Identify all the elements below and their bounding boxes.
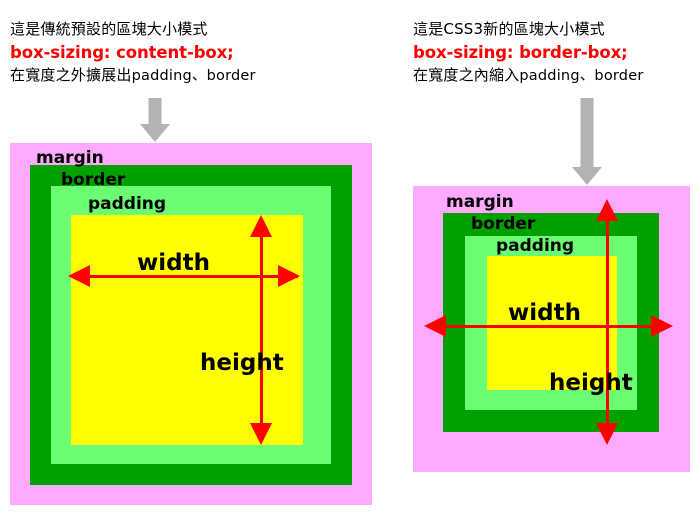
width-arrowhead-right-icon (278, 265, 300, 287)
width-arrowhead-left-icon (68, 265, 90, 287)
width-arrowhead-right-icon (651, 315, 673, 337)
caption-behaviour-line: 在寬度之內縮入padding、border (413, 64, 644, 88)
height-label-right: height (549, 372, 633, 395)
padding-label-right: padding (496, 238, 574, 255)
padding-label-left: padding (88, 196, 166, 213)
height-measure-line-left (260, 225, 263, 435)
width-label-left: width (137, 252, 210, 275)
content-box-panel: 這是傳統預設的區塊大小模式 box-sizing: content-box; 在… (0, 0, 400, 514)
arrow-shaft (149, 98, 162, 125)
border-label-left: border (61, 172, 125, 189)
arrow-shaft (581, 98, 594, 168)
caption-behaviour-line: 在寬度之外擴展出padding、border (10, 64, 256, 88)
caption-css-declaration: box-sizing: border-box; (413, 41, 644, 64)
caption-description-line: 這是CSS3新的區塊大小模式 (413, 18, 644, 41)
width-label-right: width (508, 302, 581, 325)
height-arrowhead-down-icon (596, 423, 618, 445)
caption-behaviour-latin: padding、border (132, 68, 256, 84)
height-arrowhead-up-icon (250, 215, 272, 237)
width-arrowhead-left-icon (424, 315, 446, 337)
down-arrow-icon (570, 98, 604, 186)
height-label-left: height (200, 352, 284, 375)
height-arrowhead-down-icon (250, 423, 272, 445)
margin-label-left: margin (36, 150, 104, 167)
border-box-caption: 這是CSS3新的區塊大小模式 box-sizing: border-box; 在… (413, 18, 644, 88)
margin-label-right: margin (446, 194, 514, 211)
content-box-caption: 這是傳統預設的區塊大小模式 box-sizing: content-box; 在… (10, 18, 256, 88)
height-arrowhead-up-icon (596, 199, 618, 221)
arrow-head (140, 124, 170, 142)
caption-behaviour-cjk: 在寬度之內縮入 (413, 66, 519, 84)
caption-description-line: 這是傳統預設的區塊大小模式 (10, 18, 256, 41)
border-label-right: border (471, 216, 535, 233)
down-arrow-icon (138, 98, 172, 142)
caption-css-declaration: box-sizing: content-box; (10, 41, 256, 64)
caption-behaviour-cjk: 在寬度之外擴展出 (10, 66, 132, 84)
caption-behaviour-latin: padding、border (519, 68, 643, 84)
height-measure-line-right (606, 215, 609, 431)
arrow-head (572, 167, 602, 185)
